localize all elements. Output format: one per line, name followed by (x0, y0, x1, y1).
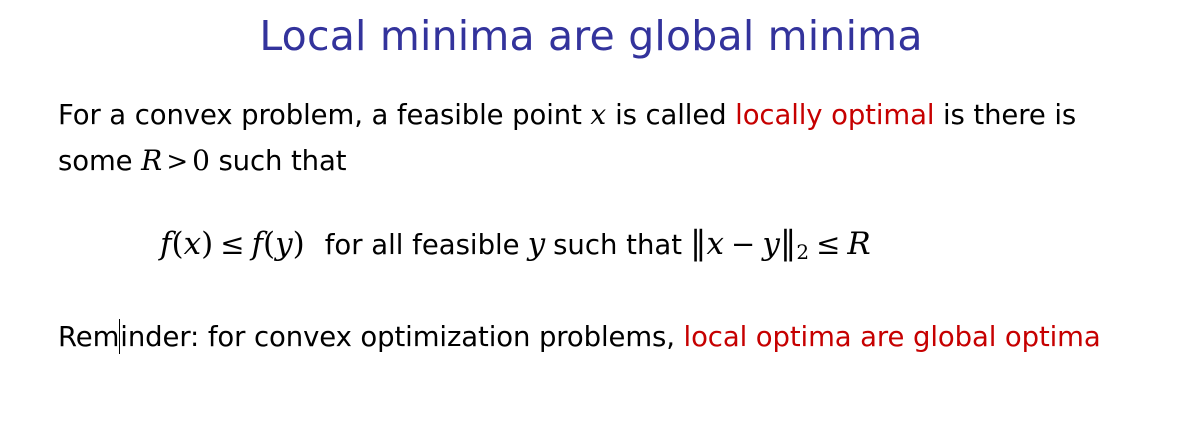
emphasis-locally-optimal: locally optimal (735, 99, 934, 131)
eq-leq-2: ≤ (809, 227, 847, 261)
math-op-greater-than: > (162, 147, 192, 177)
paragraph-text-such-that: such that (210, 145, 347, 177)
eq-var-y: y (275, 226, 293, 262)
paragraph-text-called: is called (606, 99, 735, 131)
paragraph-reminder: Reminder: for convex optimization proble… (58, 314, 1143, 360)
text-caret[interactable] (119, 319, 120, 354)
eq-paren-open-2: ( (263, 226, 275, 262)
eq-text-such-that: such that (553, 229, 682, 261)
eq-paren-close-2: ) (293, 226, 305, 262)
paragraph-definition: For a convex problem, a feasible point x… (58, 92, 1143, 185)
eq-norm-minus: − (724, 227, 762, 261)
math-zero: 0 (192, 144, 210, 177)
paragraph-text-lead: For a convex problem, a feasible point (58, 99, 590, 131)
eq-norm-subscript-2: 2 (796, 240, 809, 264)
eq-norm-var-y: y (762, 226, 780, 262)
eq-norm-var-x: x (707, 226, 724, 262)
display-equation: f(x)≤f(y)for all feasibleysuch that‖x−y‖… (160, 220, 871, 275)
eq-f-right: f (252, 226, 263, 262)
reminder-text-body: inder: for convex optimization problems, (120, 321, 683, 353)
eq-paren-close-1: ) (201, 226, 213, 262)
page-title: Local minima are global minima (0, 9, 1182, 63)
math-var-x: x (590, 98, 606, 131)
eq-text-for-all-feasible: for all feasible (325, 229, 520, 261)
eq-paren-open-1: ( (171, 226, 183, 262)
eq-norm-open: ‖ (690, 223, 707, 262)
reminder-text-prefix: Rem (58, 321, 119, 353)
slide: Local minima are global minima For a con… (0, 0, 1182, 422)
eq-var-x: x (184, 226, 201, 262)
eq-var-R: R (847, 226, 870, 262)
eq-norm-close: ‖ (780, 223, 797, 262)
eq-var-y2: y (528, 226, 546, 262)
eq-f-left: f (160, 226, 171, 262)
emphasis-local-optima-are-global-optima: local optima are global optima (684, 321, 1101, 353)
eq-leq-1: ≤ (213, 227, 251, 261)
math-var-R: R (141, 144, 162, 177)
